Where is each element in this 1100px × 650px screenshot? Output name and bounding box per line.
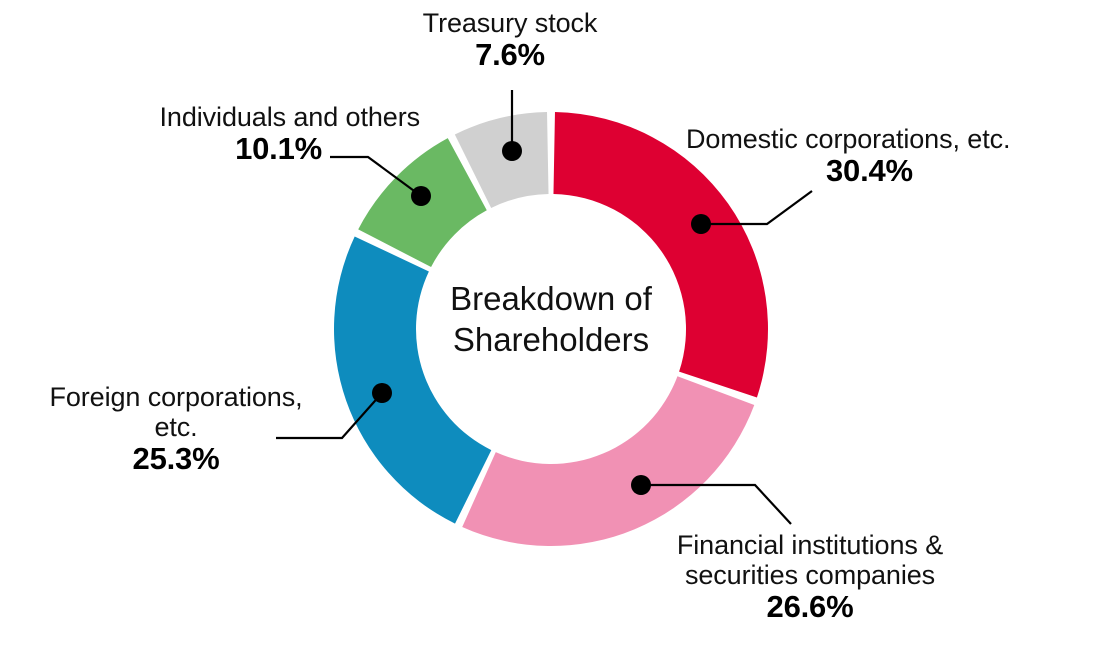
leader-dot-domestic — [691, 214, 711, 234]
callout-label-foreign-corporations-line2: etc. — [6, 412, 346, 442]
callout-percent-financial-institutions: 26.6% — [610, 590, 1010, 625]
callout-label-foreign-corporations-line1: Foreign corporations, — [6, 382, 346, 412]
callout-foreign-corporations: Foreign corporations, etc. 25.3% — [6, 382, 346, 477]
callout-treasury-stock: Treasury stock 7.6% — [330, 8, 690, 73]
callout-label-financial-institutions-line2: securities companies — [610, 560, 1010, 590]
leader-dot-individuals — [411, 186, 431, 206]
center-label-line1: Breakdown of — [411, 278, 691, 319]
donut-center-label: Breakdown of Shareholders — [411, 278, 691, 361]
callout-label-treasury-stock: Treasury stock — [330, 8, 690, 38]
shareholder-breakdown-chart: Breakdown of Shareholders Treasury stock… — [0, 0, 1100, 650]
callout-financial-institutions: Financial institutions & securities comp… — [610, 530, 1010, 625]
leader-dot-financial — [631, 475, 651, 495]
callout-percent-domestic-corporations: 30.4% — [686, 154, 1086, 189]
callout-percent-foreign-corporations: 25.3% — [6, 442, 346, 477]
callout-individuals-and-others: Individuals and others 10.1% — [20, 102, 420, 167]
center-label-line2: Shareholders — [411, 319, 691, 360]
callout-percent-treasury-stock: 7.6% — [330, 38, 690, 73]
leader-dot-foreign — [372, 383, 392, 403]
callout-label-individuals-and-others: Individuals and others — [20, 102, 420, 132]
callout-domestic-corporations: Domestic corporations, etc. 30.4% — [686, 124, 1086, 189]
donut-slice-financial-institutions-securities-companies — [462, 376, 754, 546]
leader-dot-treasury — [502, 141, 522, 161]
callout-percent-individuals-and-others: 10.1% — [20, 132, 420, 167]
callout-label-domestic-corporations: Domestic corporations, etc. — [686, 124, 1086, 154]
callout-label-financial-institutions-line1: Financial institutions & — [610, 530, 1010, 560]
